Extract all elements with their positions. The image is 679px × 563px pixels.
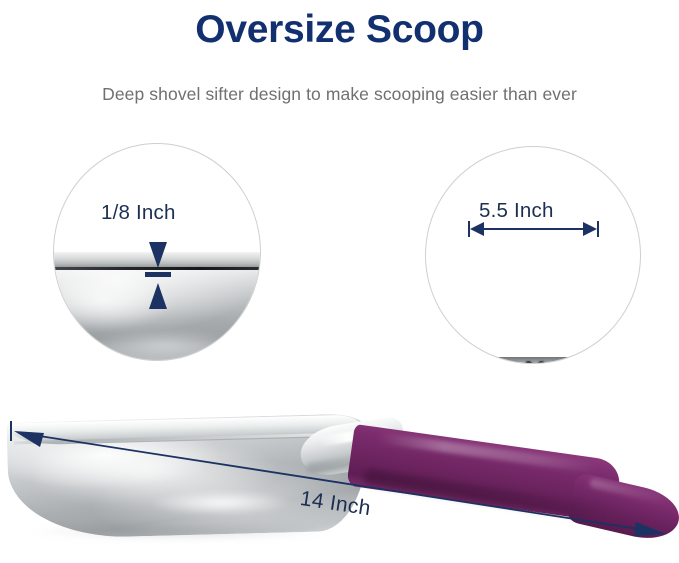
sifter-slot	[525, 361, 532, 364]
callout-width: 5.5 Inch	[425, 146, 641, 364]
product-illustration: 14 Inch	[0, 395, 679, 563]
sifter-slot	[551, 362, 558, 364]
infographic-canvas: Oversize Scoop Deep shovel sifter design…	[0, 0, 679, 563]
width-arrow-bar	[478, 228, 589, 230]
width-dimension-arrow	[468, 219, 599, 239]
page-title: Oversize Scoop	[0, 4, 679, 56]
length-arrow-bar	[20, 433, 658, 532]
thickness-arrow-bottom-icon	[149, 283, 167, 309]
callout-thickness: 1/8 Inch	[53, 143, 261, 361]
sifter-slot-group	[472, 359, 598, 364]
sifter-scoop-front-view	[459, 357, 611, 364]
thickness-arrow-top-icon	[149, 242, 167, 268]
sifter-slot	[538, 361, 545, 364]
thickness-dimension-label: 1/8 Inch	[101, 201, 176, 225]
length-arrow-head-right-icon	[634, 522, 666, 536]
page-subtitle: Deep shovel sifter design to make scoopi…	[0, 81, 679, 107]
length-dimension-arrow	[0, 395, 679, 563]
steel-highlight-lower	[90, 330, 240, 360]
sifter-slot	[512, 362, 519, 364]
width-arrow-head-right-icon	[583, 222, 597, 236]
length-arrow-head-left-icon	[14, 431, 44, 447]
width-arrow-cap-right-icon	[597, 221, 599, 237]
thickness-gap-bar-icon	[145, 272, 171, 277]
